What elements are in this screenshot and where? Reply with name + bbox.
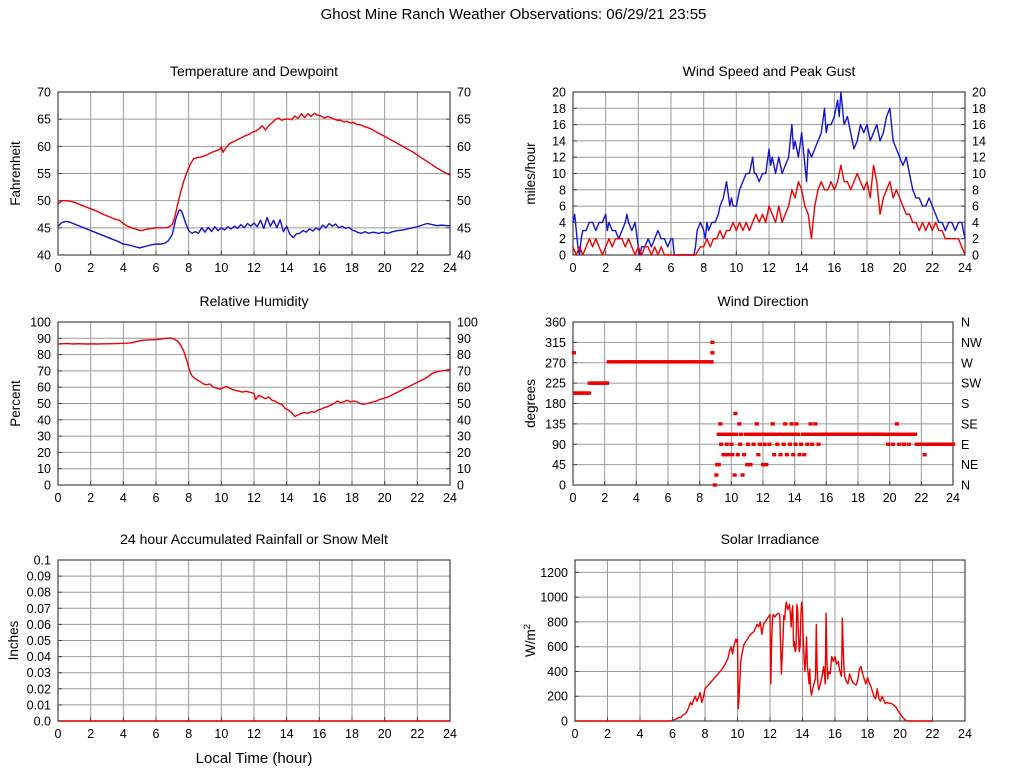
- x-axis-tick-label: 6: [153, 491, 160, 505]
- scatter-point: [726, 453, 730, 456]
- x-axis-tick-label: 24: [946, 491, 960, 505]
- x-axis-tick-label: 18: [345, 491, 359, 505]
- page-title: Ghost Mine Ranch Weather Observations: 0…: [0, 6, 1027, 23]
- y-axis-tick-label: 0.08: [27, 586, 51, 600]
- scatter-point: [771, 422, 775, 425]
- x-axis-tick-label: 6: [153, 261, 160, 275]
- scatter-point: [762, 433, 766, 436]
- y-axis-right-tick-label: 10: [972, 167, 986, 181]
- x-axis-tick-label: 14: [788, 491, 802, 505]
- x-axis-tick-label: 10: [214, 491, 228, 505]
- chart-title: 24 hour Accumulated Rainfall or Snow Mel…: [120, 531, 388, 547]
- y-axis-tick-label: 70: [37, 364, 51, 378]
- y-axis-right-tick-label: 4: [972, 216, 979, 230]
- y-axis-tick-label: 1000: [540, 591, 568, 605]
- y-axis-tick-label: 40: [37, 413, 51, 427]
- scatter-point: [813, 422, 817, 425]
- x-axis-tick-label: 14: [796, 727, 810, 741]
- chart-panel-solar-irradiance: Solar Irradiance020040060080010001200024…: [513, 528, 1027, 772]
- x-axis-tick-label: 12: [247, 261, 261, 275]
- scatter-point: [802, 453, 806, 456]
- scatter-point: [895, 422, 899, 425]
- scatter-point: [572, 351, 576, 354]
- chart-title: Temperature and Dewpoint: [170, 63, 338, 79]
- y-axis-right-tick-label: 40: [457, 413, 471, 427]
- scatter-point: [810, 443, 814, 446]
- x-axis-tick-label: 2: [87, 261, 94, 275]
- scatter-point: [719, 443, 723, 446]
- y-axis-tick-label: 55: [37, 167, 51, 181]
- y-axis-right-tick-label: 100: [457, 316, 478, 330]
- scatter-point: [923, 453, 927, 456]
- scatter-point: [737, 422, 741, 425]
- y-axis-tick-label: 50: [37, 397, 51, 411]
- x-axis-tick-label: 8: [185, 261, 192, 275]
- y-axis-right-tick-label: 80: [457, 348, 471, 362]
- x-axis-tick-label: 18: [345, 727, 359, 741]
- x-axis-tick-label: 18: [860, 261, 874, 275]
- svg-text:miles/hour: miles/hour: [523, 142, 538, 205]
- x-axis-tick-label: 2: [601, 491, 608, 505]
- scatter-point: [780, 433, 784, 436]
- chart-panel-wind-speed-gust: Wind Speed and Peak Gust0246810121416182…: [513, 60, 1027, 282]
- y-axis-right-tick-label: 18: [972, 102, 986, 116]
- y-axis-tick-label: 0.09: [27, 570, 51, 584]
- scatter-point: [710, 341, 714, 344]
- x-axis-tick-label: 14: [280, 727, 294, 741]
- x-axis-tick-label: 16: [312, 261, 326, 275]
- y-axis-right-tick-label: 10: [457, 462, 471, 476]
- y-axis-right-tick-label: 45: [457, 221, 471, 235]
- scatter-point: [730, 453, 734, 456]
- y-axis-title: miles/hour: [523, 142, 538, 205]
- y-axis-tick-label: 0.05: [27, 634, 51, 648]
- x-axis-tick-label: 6: [669, 727, 676, 741]
- scatter-point: [799, 443, 803, 446]
- compass-tick-label: N: [961, 316, 970, 330]
- scatter-point: [605, 381, 609, 384]
- x-axis-tick-label: 12: [756, 491, 770, 505]
- scatter-point: [897, 443, 901, 446]
- y-axis-tick-label: 1200: [540, 566, 568, 580]
- scatter-point: [902, 443, 906, 446]
- y-axis-tick-label: 0.02: [27, 682, 51, 696]
- y-axis-tick-label: 65: [37, 113, 51, 127]
- scatter-point: [736, 453, 740, 456]
- x-axis-tick-label: 4: [120, 261, 127, 275]
- y-axis-tick-label: 45: [37, 221, 51, 235]
- scatter-point: [791, 453, 795, 456]
- x-axis-tick-label: 18: [851, 491, 865, 505]
- y-axis-right-tick-label: 40: [457, 249, 471, 263]
- x-axis-tick-label: 20: [378, 491, 392, 505]
- x-axis-tick-label: 24: [958, 727, 972, 741]
- scatter-point: [714, 473, 718, 476]
- scatter-point: [739, 433, 743, 436]
- compass-tick-label: S: [961, 397, 969, 411]
- scatter-point: [734, 433, 738, 436]
- scatter-point: [886, 443, 890, 446]
- y-axis-right-tick-label: 60: [457, 381, 471, 395]
- x-axis-title: Local Time (hour): [196, 750, 313, 767]
- y-axis-tick-label: 90: [552, 438, 566, 452]
- x-axis-tick-label: 24: [443, 491, 457, 505]
- y-axis-right-tick-label: 8: [972, 183, 979, 197]
- x-axis-tick-label: 22: [410, 491, 424, 505]
- y-axis-tick-label: 200: [547, 690, 568, 704]
- x-axis-tick-label: 20: [893, 261, 907, 275]
- x-axis-tick-label: 4: [633, 491, 640, 505]
- scatter-point: [788, 443, 792, 446]
- y-axis-tick-label: 16: [552, 118, 566, 132]
- x-axis-tick-label: 10: [214, 261, 228, 275]
- x-axis-tick-label: 12: [247, 727, 261, 741]
- svg-text:Percent: Percent: [8, 380, 23, 427]
- chart-accumulated-rainfall: 24 hour Accumulated Rainfall or Snow Mel…: [0, 528, 510, 772]
- scatter-point: [951, 443, 955, 446]
- y-axis-tick-label: 600: [547, 640, 568, 654]
- y-axis-tick-label: 2: [559, 232, 566, 246]
- scatter-point: [782, 443, 786, 446]
- x-axis-tick-label: 12: [763, 727, 777, 741]
- scatter-point: [729, 443, 733, 446]
- scatter-point: [767, 443, 771, 446]
- scatter-point: [763, 443, 767, 446]
- y-axis-tick-label: 0.03: [27, 666, 51, 680]
- y-axis-tick-label: 0.01: [27, 698, 51, 712]
- chart-temperature-dewpoint: Temperature and Dewpoint4045505560657040…: [0, 60, 510, 282]
- scatter-point: [758, 443, 762, 446]
- x-axis-tick-label: 22: [926, 727, 940, 741]
- scatter-point: [733, 473, 737, 476]
- y-axis-right-tick-label: 2: [972, 232, 979, 246]
- scatter-point: [772, 453, 776, 456]
- y-axis-right-tick-label: 65: [457, 113, 471, 127]
- y-axis-right-tick-label: 20: [457, 446, 471, 460]
- y-axis-title: degrees: [523, 379, 538, 428]
- y-axis-right-tick-label: 30: [457, 430, 471, 444]
- chart-panel-wind-direction: Wind Direction04590135180225270315360NNE…: [513, 290, 1027, 512]
- x-axis-tick-label: 10: [724, 491, 738, 505]
- y-axis-tick-label: 50: [37, 194, 51, 208]
- y-axis-title: W/m2: [522, 624, 539, 657]
- y-axis-right-tick-label: 90: [457, 332, 471, 346]
- y-axis-tick-label: 225: [545, 377, 566, 391]
- svg-text:W/m2: W/m2: [522, 624, 539, 657]
- x-axis-tick-label: 0: [55, 261, 62, 275]
- scatter-point: [764, 463, 768, 466]
- y-axis-tick-label: 14: [552, 134, 566, 148]
- svg-text:Fahrenheit: Fahrenheit: [8, 141, 23, 206]
- x-axis-tick-label: 4: [635, 261, 642, 275]
- x-axis-tick-label: 12: [762, 261, 776, 275]
- chart-wind-direction: Wind Direction04590135180225270315360NNE…: [513, 290, 1027, 512]
- x-axis-tick-label: 6: [153, 727, 160, 741]
- y-axis-tick-label: 0: [44, 479, 51, 493]
- scatter-point: [710, 351, 714, 354]
- y-axis-tick-label: 90: [37, 332, 51, 346]
- y-axis-right-tick-label: 0: [457, 479, 464, 493]
- x-axis-tick-label: 16: [312, 491, 326, 505]
- x-axis-tick-label: 8: [185, 727, 192, 741]
- scatter-point: [717, 463, 721, 466]
- x-axis-tick-label: 18: [345, 261, 359, 275]
- chart-title: Wind Direction: [717, 293, 808, 309]
- scatter-point: [805, 443, 809, 446]
- y-axis-tick-label: 100: [30, 316, 51, 330]
- y-axis-tick-label: 0: [559, 479, 566, 493]
- scatter-point: [794, 422, 798, 425]
- scatter-point: [913, 433, 917, 436]
- y-axis-title: Inches: [6, 620, 21, 660]
- y-axis-right-tick-label: 12: [972, 151, 986, 165]
- y-axis-title: Percent: [8, 380, 23, 427]
- y-axis-tick-label: 0: [559, 249, 566, 263]
- y-axis-right-tick-label: 60: [457, 140, 471, 154]
- y-axis-title: Fahrenheit: [8, 141, 23, 206]
- y-axis-tick-label: 30: [37, 430, 51, 444]
- scatter-point: [713, 483, 717, 486]
- scatter-point: [785, 453, 789, 456]
- x-axis-tick-label: 2: [87, 727, 94, 741]
- x-axis-tick-label: 20: [893, 727, 907, 741]
- y-axis-tick-label: 180: [545, 397, 566, 411]
- scatter-point: [907, 443, 911, 446]
- x-axis-tick-label: 12: [247, 491, 261, 505]
- x-axis-tick-label: 8: [185, 491, 192, 505]
- x-axis-tick-label: 22: [410, 261, 424, 275]
- x-axis-tick-label: 22: [410, 727, 424, 741]
- compass-tick-label: SE: [961, 417, 978, 431]
- chart-solar-irradiance: Solar Irradiance020040060080010001200024…: [513, 528, 1027, 772]
- y-axis-tick-label: 0.1: [34, 554, 51, 568]
- x-axis-tick-label: 0: [570, 491, 577, 505]
- x-axis-tick-label: 14: [280, 261, 294, 275]
- y-axis-tick-label: 0.07: [27, 602, 51, 616]
- y-axis-right-tick-label: 16: [972, 118, 986, 132]
- x-axis-tick-label: 0: [55, 491, 62, 505]
- y-axis-right-tick-label: 55: [457, 167, 471, 181]
- scatter-point: [778, 453, 782, 456]
- x-axis-tick-label: 10: [729, 261, 743, 275]
- scatter-point: [797, 453, 801, 456]
- y-axis-tick-label: 20: [552, 86, 566, 100]
- y-axis-tick-label: 135: [545, 417, 566, 431]
- y-axis-right-tick-label: 70: [457, 86, 471, 100]
- scatter-point: [755, 422, 759, 425]
- scatter-point: [748, 463, 752, 466]
- y-axis-tick-label: 0: [561, 715, 568, 729]
- y-axis-tick-label: 10: [37, 462, 51, 476]
- compass-tick-label: NE: [961, 458, 978, 472]
- y-axis-right-tick-label: 50: [457, 194, 471, 208]
- chart-panel-relative-humidity: Relative Humidity01020304050607080901000…: [0, 290, 510, 512]
- chart-panel-temperature-dewpoint: Temperature and Dewpoint4045505560657040…: [0, 60, 510, 282]
- x-axis-tick-label: 20: [883, 491, 897, 505]
- y-axis-tick-label: 8: [559, 183, 566, 197]
- x-axis-tick-label: 22: [925, 261, 939, 275]
- y-axis-tick-label: 60: [37, 381, 51, 395]
- x-axis-tick-label: 0: [55, 727, 62, 741]
- x-axis-tick-label: 4: [120, 491, 127, 505]
- y-axis-tick-label: 360: [545, 316, 566, 330]
- chart-title: Solar Irradiance: [721, 531, 820, 547]
- scatter-point: [710, 360, 714, 363]
- x-axis-tick-label: 6: [665, 491, 672, 505]
- x-axis-tick-label: 8: [696, 491, 703, 505]
- scatter-point: [756, 453, 760, 456]
- x-axis-tick-label: 6: [668, 261, 675, 275]
- x-axis-tick-label: 16: [312, 727, 326, 741]
- y-axis-tick-label: 4: [559, 216, 566, 230]
- y-axis-tick-label: 0.06: [27, 618, 51, 632]
- scatter-point: [725, 443, 729, 446]
- scatter-point: [746, 443, 750, 446]
- scatter-point: [733, 412, 737, 415]
- scatter-point: [587, 391, 591, 394]
- chart-relative-humidity: Relative Humidity01020304050607080901000…: [0, 290, 510, 512]
- y-axis-right-tick-label: 14: [972, 134, 986, 148]
- x-axis-tick-label: 20: [378, 727, 392, 741]
- scatter-point: [742, 453, 746, 456]
- scatter-point: [718, 422, 722, 425]
- x-axis-tick-label: 2: [602, 261, 609, 275]
- x-axis-tick-label: 10: [214, 727, 228, 741]
- scatter-point: [755, 433, 759, 436]
- scatter-point: [783, 422, 787, 425]
- x-axis-tick-label: 14: [280, 491, 294, 505]
- x-axis-tick-label: 0: [570, 261, 577, 275]
- y-axis-tick-label: 315: [545, 336, 566, 350]
- weather-dashboard: Ghost Mine Ranch Weather Observations: 0…: [0, 0, 1027, 772]
- y-axis-tick-label: 6: [559, 200, 566, 214]
- x-axis-tick-label: 18: [861, 727, 875, 741]
- x-axis-tick-label: 16: [827, 261, 841, 275]
- chart-title: Relative Humidity: [200, 293, 309, 309]
- y-axis-right-tick-label: 6: [972, 200, 979, 214]
- y-axis-tick-label: 45: [552, 458, 566, 472]
- x-axis-tick-label: 10: [731, 727, 745, 741]
- y-axis-tick-label: 800: [547, 615, 568, 629]
- scatter-point: [796, 433, 800, 436]
- y-axis-tick-label: 400: [547, 665, 568, 679]
- y-axis-right-tick-label: 50: [457, 397, 471, 411]
- x-axis-tick-label: 22: [914, 491, 928, 505]
- x-axis-tick-label: 4: [120, 727, 127, 741]
- y-axis-tick-label: 80: [37, 348, 51, 362]
- svg-text:Inches: Inches: [6, 620, 21, 660]
- x-axis-tick-label: 20: [378, 261, 392, 275]
- y-axis-tick-label: 70: [37, 86, 51, 100]
- scatter-point: [891, 443, 895, 446]
- scatter-point: [816, 443, 820, 446]
- x-axis-tick-label: 14: [795, 261, 809, 275]
- y-axis-tick-label: 18: [552, 102, 566, 116]
- x-axis-tick-label: 8: [702, 727, 709, 741]
- scatter-point: [786, 433, 790, 436]
- compass-tick-label: W: [961, 356, 973, 370]
- x-axis-tick-label: 0: [572, 727, 579, 741]
- x-axis-tick-label: 8: [700, 261, 707, 275]
- y-axis-tick-label: 270: [545, 356, 566, 370]
- scatter-point: [740, 473, 744, 476]
- scatter-point: [738, 443, 742, 446]
- y-axis-tick-label: 10: [552, 167, 566, 181]
- x-axis-tick-label: 24: [958, 261, 972, 275]
- y-axis-tick-label: 12: [552, 151, 566, 165]
- x-axis-tick-label: 2: [604, 727, 611, 741]
- x-axis-tick-label: 4: [637, 727, 644, 741]
- y-axis-right-tick-label: 70: [457, 364, 471, 378]
- y-axis-right-tick-label: 0: [972, 249, 979, 263]
- svg-text:degrees: degrees: [523, 379, 538, 428]
- y-axis-tick-label: 40: [37, 249, 51, 263]
- compass-tick-label: N: [961, 479, 970, 493]
- compass-tick-label: NW: [961, 336, 982, 350]
- chart-title: Wind Speed and Peak Gust: [683, 63, 856, 79]
- x-axis-tick-label: 24: [443, 727, 457, 741]
- scatter-point: [752, 443, 756, 446]
- scatter-point: [793, 443, 797, 446]
- scatter-point: [790, 422, 794, 425]
- x-axis-tick-label: 16: [828, 727, 842, 741]
- compass-tick-label: E: [961, 438, 969, 452]
- chart-panel-accumulated-rainfall: 24 hour Accumulated Rainfall or Snow Mel…: [0, 528, 510, 772]
- scatter-point: [809, 422, 813, 425]
- y-axis-tick-label: 0.04: [27, 650, 51, 664]
- x-axis-tick-label: 24: [443, 261, 457, 275]
- x-axis-tick-label: 2: [87, 491, 94, 505]
- chart-wind-speed-gust: Wind Speed and Peak Gust0246810121416182…: [513, 60, 1027, 282]
- scatter-point: [775, 443, 779, 446]
- y-axis-tick-label: 0.0: [34, 715, 51, 729]
- compass-tick-label: SW: [961, 377, 981, 391]
- y-axis-tick-label: 20: [37, 446, 51, 460]
- x-axis-tick-label: 16: [819, 491, 833, 505]
- y-axis-tick-label: 60: [37, 140, 51, 154]
- y-axis-right-tick-label: 20: [972, 86, 986, 100]
